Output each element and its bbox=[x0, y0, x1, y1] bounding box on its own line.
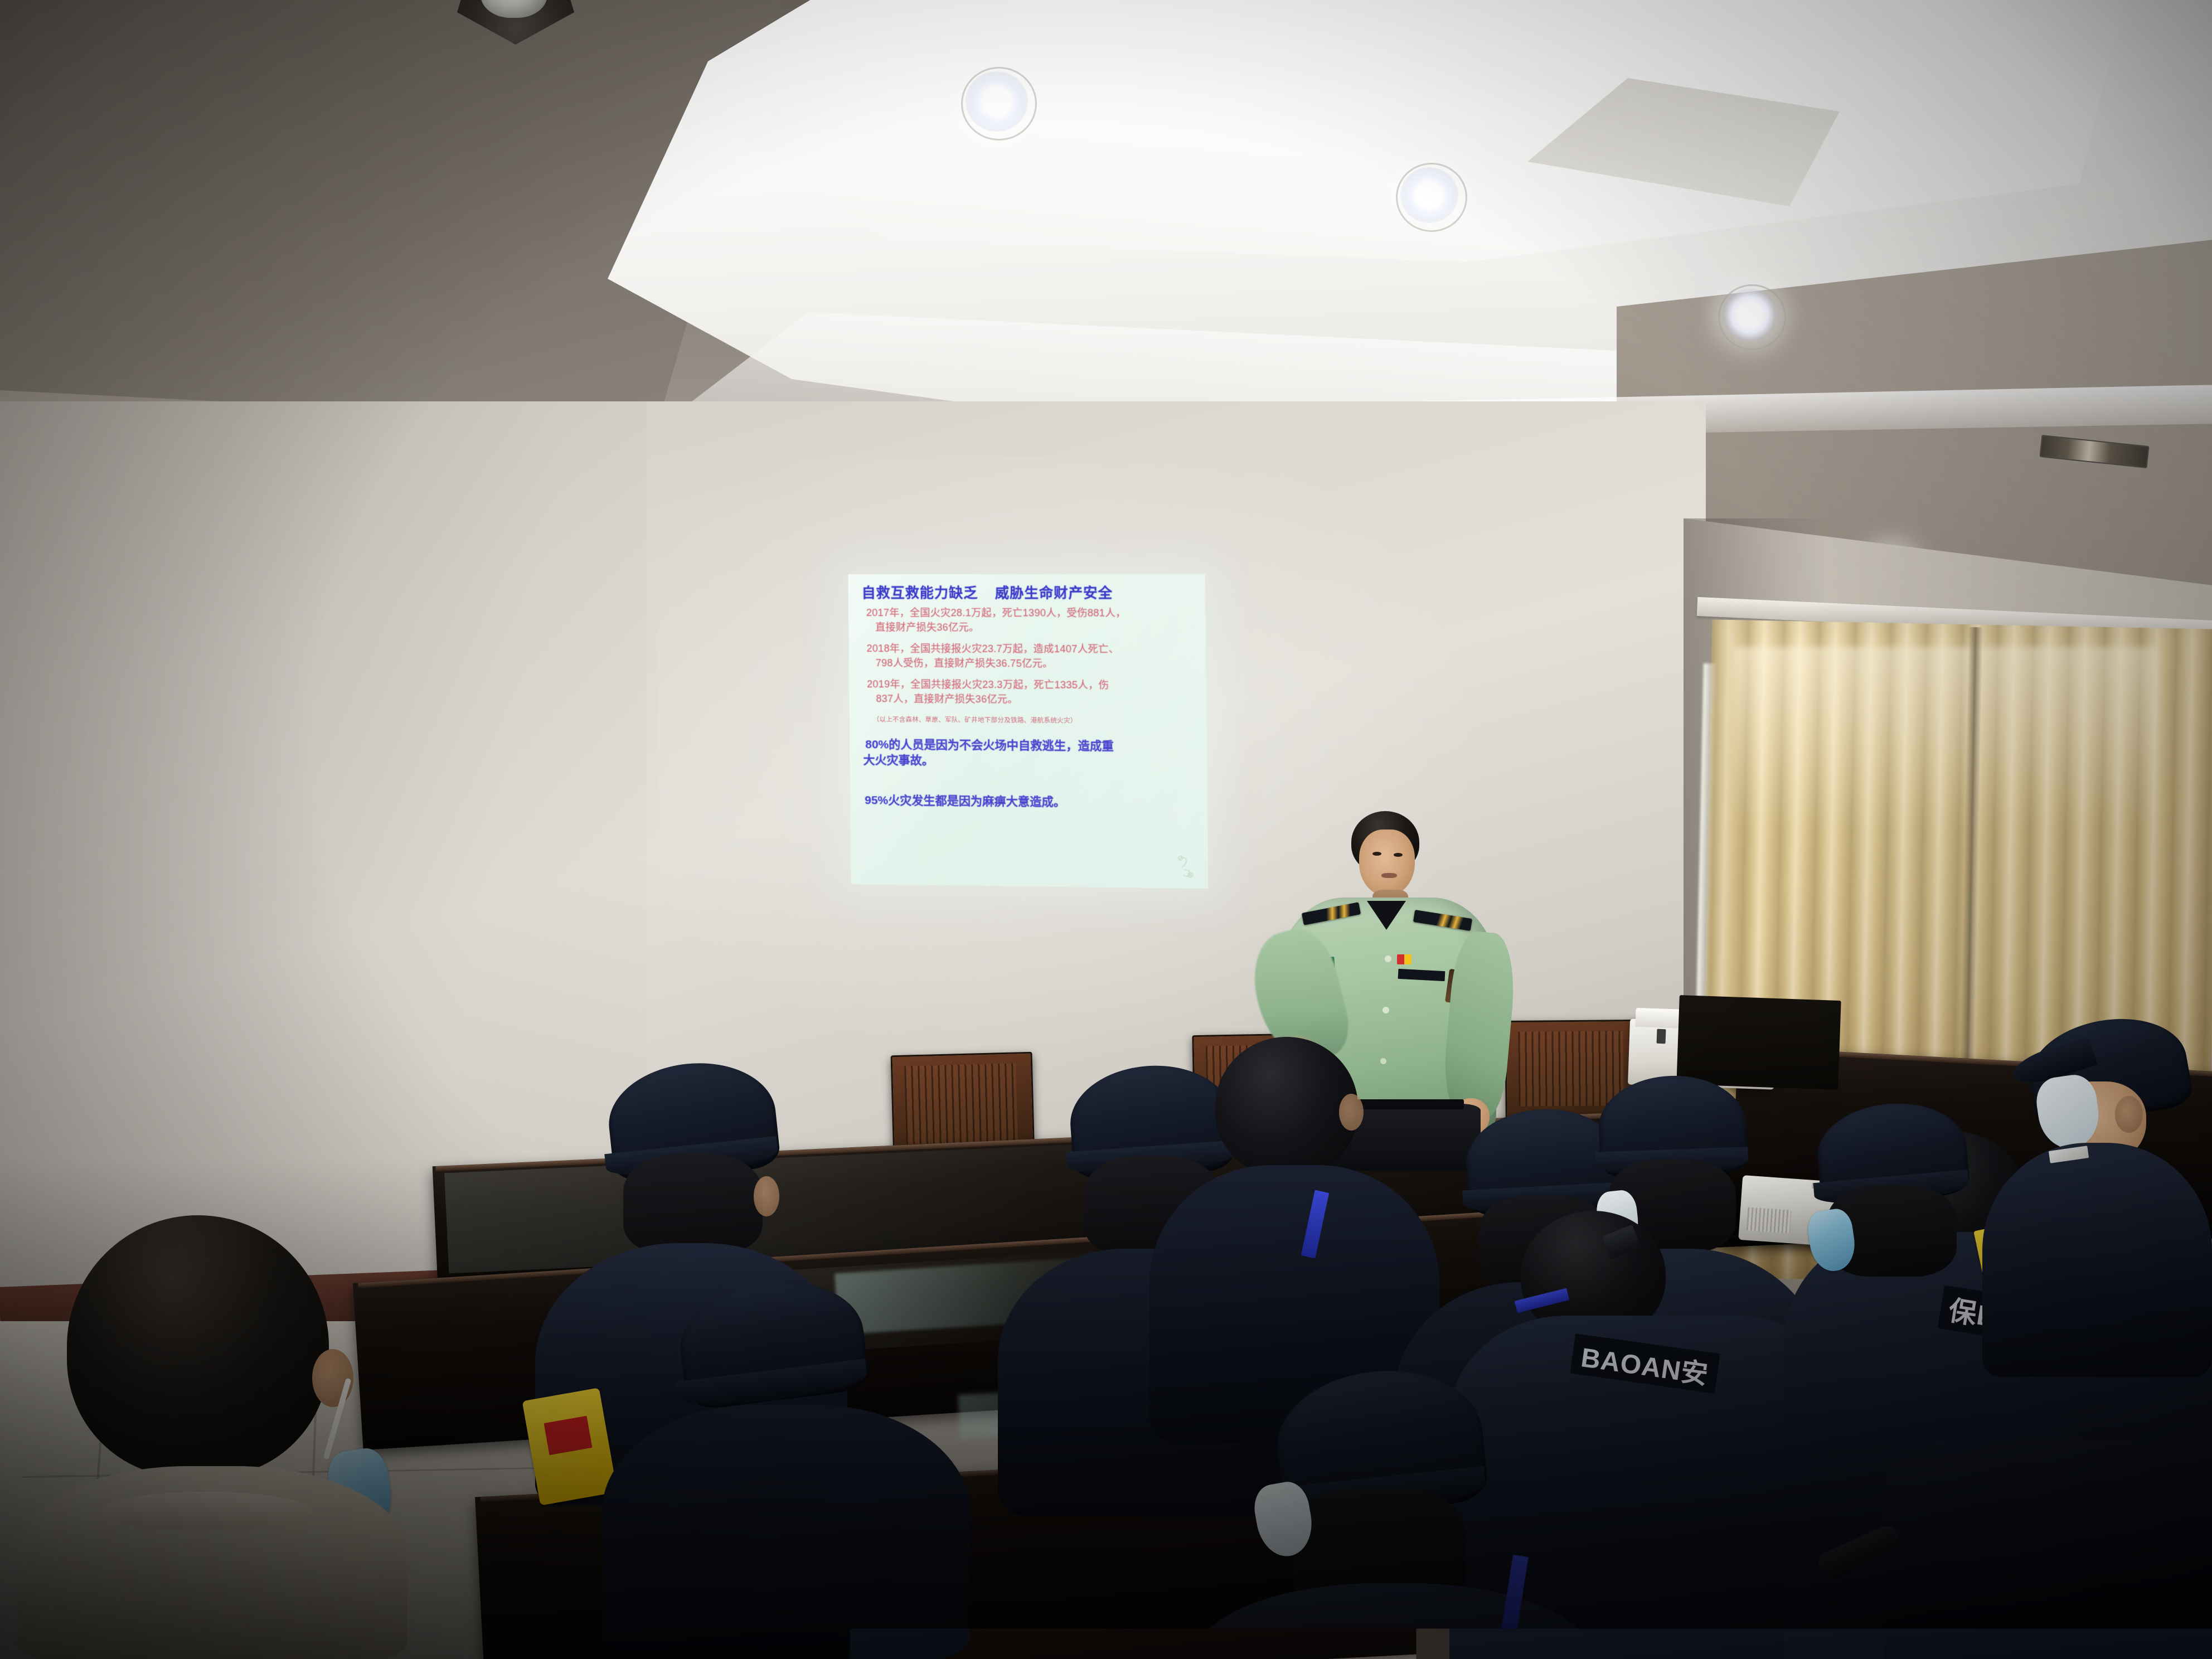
slide-watermark-logo-icon bbox=[1169, 853, 1200, 882]
slide-line-5: 2019年，全国共接报火灾23.3万起，死亡1335人，伤 bbox=[867, 678, 1208, 693]
presenter-eye-right bbox=[1394, 853, 1403, 857]
person-m-body bbox=[1884, 1438, 2212, 1659]
dark-panel-right bbox=[1676, 995, 1841, 1090]
projector-vent bbox=[1747, 1207, 1792, 1233]
person-front-left-collar bbox=[100, 1492, 312, 1531]
person-l-body bbox=[602, 1405, 970, 1659]
slide-highlight-2: 95%火灾发生都是因为麻痹大意造成。 bbox=[865, 793, 1208, 812]
ceiling-downlight-ring-1 bbox=[961, 67, 1037, 140]
presenter-button-2 bbox=[1382, 1007, 1389, 1013]
ceiling-downlight-ring-3 bbox=[1718, 284, 1786, 350]
person-front-left-hair bbox=[67, 1215, 329, 1477]
curtain-highlight bbox=[1734, 647, 2157, 831]
chair-back-3-slats bbox=[1518, 1031, 1623, 1107]
slide-line-2: 直接财产损失36亿元。 bbox=[875, 621, 1208, 635]
slide-title-left: 自救互救能力缺乏 bbox=[861, 582, 978, 602]
projected-slide: 自救互救能力缺乏 威胁生命财产安全 2017年，全国火灾28.1万起，死亡139… bbox=[848, 574, 1208, 889]
slide-line-3: 2018年，全国共接报火灾23.7万起，造成1407人死亡、 bbox=[866, 642, 1208, 657]
person-b-head bbox=[623, 1154, 763, 1254]
presenter-eye-left bbox=[1372, 852, 1381, 856]
presenter-mouth bbox=[1381, 873, 1397, 878]
slide-line-1: 2017年，全国火灾28.1万起，死亡1390人，受伤881人， bbox=[866, 607, 1208, 620]
person-i-body bbox=[1982, 1143, 2212, 1377]
ceiling-downlight-ring-2 bbox=[1396, 163, 1467, 232]
person-d-head bbox=[1215, 1037, 1358, 1176]
presenter-button-3 bbox=[1380, 1058, 1386, 1064]
slide-title-right: 威胁生命财产安全 bbox=[995, 582, 1113, 602]
person-d-ear bbox=[1339, 1094, 1364, 1131]
conference-room-photo: 自救互救能力缺乏 威胁生命财产安全 2017年，全国火灾28.1万起，死亡139… bbox=[0, 0, 2212, 1659]
presenter-flag-pin-icon bbox=[1397, 954, 1411, 964]
slide-line-6: 837人，直接财产损失36亿元。 bbox=[876, 692, 1208, 707]
presenter-button-1 bbox=[1385, 955, 1391, 962]
slide-highlight-1b: 大火灾事故。 bbox=[863, 753, 1208, 771]
case-latch-left bbox=[1657, 1029, 1666, 1044]
slide-highlight-1: 80%的人员是因为不会火场中自救逃生，造成重 bbox=[865, 737, 1208, 755]
chair-back-1-slats bbox=[904, 1063, 1018, 1144]
person-b-ear bbox=[754, 1176, 779, 1216]
presenter-face bbox=[1359, 829, 1415, 896]
person-i-ear bbox=[2115, 1096, 2143, 1133]
slide-line-4: 798人受伤，直接财产损失36.75亿元。 bbox=[876, 657, 1209, 671]
